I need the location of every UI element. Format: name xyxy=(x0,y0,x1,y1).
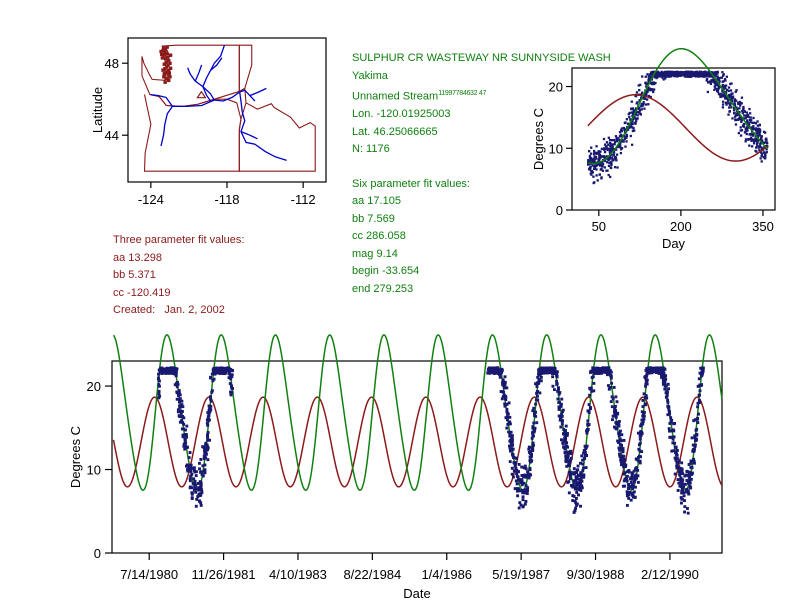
series-data-point xyxy=(642,405,645,408)
seasonal-xtick-label: 50 xyxy=(592,219,606,234)
series-data-point xyxy=(188,464,191,467)
series-data-point xyxy=(645,381,648,384)
state-boundary-0 xyxy=(142,45,239,106)
series-xtick-label: 7/14/1980 xyxy=(120,567,178,582)
series-data-point xyxy=(206,458,209,461)
seasonal-data-point xyxy=(652,91,654,93)
series-data-point xyxy=(617,441,620,444)
series-data-point xyxy=(626,494,629,497)
series-data-point xyxy=(584,451,587,454)
time-series-panel: 7/14/198011/26/19814/10/19838/22/19841/4… xyxy=(82,355,787,605)
series-data-point xyxy=(562,428,565,431)
series-data-point xyxy=(688,463,691,466)
seasonal-data-point xyxy=(641,108,643,110)
series-data-point xyxy=(683,483,686,486)
seasonal-data-point xyxy=(728,111,730,113)
seasonal-data-point xyxy=(641,75,643,77)
series-data-point xyxy=(551,385,554,388)
series-data-point xyxy=(561,419,564,422)
seasonal-data-point xyxy=(640,105,642,107)
series-data-point xyxy=(680,496,683,499)
seasonal-data-point xyxy=(595,156,597,158)
series-data-point xyxy=(680,478,683,481)
seasonal-data-point xyxy=(590,153,592,155)
series-data-point xyxy=(515,457,518,460)
series-data-point xyxy=(192,483,195,486)
series-data-point xyxy=(676,457,679,460)
seasonal-data-point xyxy=(595,165,597,167)
seasonal-data-point xyxy=(631,126,633,128)
series-data-point xyxy=(206,433,209,436)
series-data-point xyxy=(229,375,232,378)
three-param-block: Three parameter fit values: aa 13.298 bb… xyxy=(113,232,244,320)
seasonal-data-point xyxy=(745,138,747,140)
series-data-point xyxy=(224,371,227,374)
seasonal-frame xyxy=(572,68,775,210)
seasonal-data-point xyxy=(606,141,608,143)
series-data-point xyxy=(614,395,617,398)
series-data-point xyxy=(228,373,231,376)
series-data-point xyxy=(511,473,514,476)
series-data-point xyxy=(611,418,614,421)
series-data-point xyxy=(488,369,491,372)
series-data-point xyxy=(539,368,542,371)
series-data-point xyxy=(518,507,521,510)
series-data-point xyxy=(651,367,654,370)
seasonal-data-point xyxy=(749,112,751,114)
series-data-point xyxy=(670,421,673,424)
seasonal-data-point xyxy=(609,176,611,178)
seasonal-data-point xyxy=(635,119,637,121)
seasonal-data-point xyxy=(761,160,763,162)
series-data-point xyxy=(588,394,591,397)
seasonal-data-point xyxy=(742,108,744,110)
series-data-point xyxy=(524,465,527,468)
series-data-point xyxy=(197,486,200,489)
series-data-point xyxy=(618,455,621,458)
seasonal-data-point xyxy=(679,73,681,75)
series-data-point xyxy=(564,456,567,459)
seasonal-data-point xyxy=(755,146,757,148)
series-data-point xyxy=(203,449,206,452)
series-data-point xyxy=(626,490,629,493)
seasonal-data-point xyxy=(601,165,603,167)
series-data-point xyxy=(209,376,212,379)
series-data-point xyxy=(582,467,585,470)
series-data-point xyxy=(511,467,514,470)
seasonal-data-point xyxy=(603,156,605,158)
seasonal-ytick-label: 0 xyxy=(556,203,563,218)
seasonal-data-point xyxy=(630,108,632,110)
series-data-point xyxy=(502,384,505,387)
seasonal-data-point xyxy=(714,73,716,75)
series-data-point xyxy=(516,475,519,478)
seasonal-data-point xyxy=(747,138,749,140)
series-data-point xyxy=(157,383,160,386)
map-site-point xyxy=(168,62,171,65)
seasonal-plot-svg: 5020035001020DayDegrees C xyxy=(530,62,780,247)
seasonal-data-point xyxy=(755,122,757,124)
series-data-point xyxy=(683,505,686,508)
seasonal-data-point xyxy=(698,73,700,75)
series-data-point xyxy=(577,465,580,468)
series-data-point xyxy=(558,415,561,418)
series-data-point xyxy=(677,489,680,492)
series-data-point xyxy=(586,419,589,422)
series-data-point xyxy=(182,434,185,437)
six-param-begin: begin -33.654 xyxy=(352,263,611,281)
series-data-point xyxy=(189,478,192,481)
series-data-point xyxy=(579,462,582,465)
seasonal-data-point xyxy=(687,75,689,77)
series-data-point xyxy=(529,450,532,453)
series-data-point xyxy=(220,367,223,370)
seasonal-plot-panel: 5020035001020DayDegrees C xyxy=(530,62,780,247)
seasonal-data-point xyxy=(645,103,647,105)
series-data-point xyxy=(505,408,508,411)
seasonal-data-point xyxy=(759,157,761,159)
series-data-point xyxy=(545,366,548,369)
series-data-point xyxy=(695,439,698,442)
series-data-point xyxy=(637,481,640,484)
series-data-point xyxy=(667,387,670,390)
series-data-point xyxy=(582,476,585,479)
seasonal-data-point xyxy=(738,132,740,134)
seasonal-data-point xyxy=(741,97,743,99)
seasonal-data-point xyxy=(730,106,732,108)
series-data-point xyxy=(613,410,616,413)
series-data-point xyxy=(551,375,554,378)
seasonal-data-point xyxy=(616,166,618,168)
series-data-point xyxy=(592,375,595,378)
series-data-point xyxy=(211,389,214,392)
seasonal-data-point xyxy=(641,92,643,94)
series-data-point xyxy=(577,493,580,496)
series-data-point xyxy=(178,389,181,392)
series-data-point xyxy=(699,367,702,370)
seasonal-data-point xyxy=(727,113,729,115)
river-2 xyxy=(188,68,203,87)
series-data-point xyxy=(663,388,666,391)
series-data-point xyxy=(698,393,701,396)
seasonal-data-point xyxy=(655,73,657,75)
seasonal-data-point xyxy=(616,153,618,155)
seasonal-data-point xyxy=(636,101,638,103)
series-data-point xyxy=(175,374,178,377)
series-data-point xyxy=(579,505,582,508)
seasonal-data-point xyxy=(594,167,596,169)
series-data-point xyxy=(173,368,176,371)
seasonal-data-point xyxy=(631,111,633,113)
series-data-point xyxy=(209,395,212,398)
seasonal-data-point xyxy=(754,139,756,141)
series-data-point xyxy=(504,403,507,406)
seasonal-data-point xyxy=(590,147,592,149)
series-data-point xyxy=(683,494,686,497)
series-data-point xyxy=(507,431,510,434)
series-data-point xyxy=(614,427,617,430)
seasonal-data-point xyxy=(740,126,742,128)
series-xtick-label: 2/12/1990 xyxy=(641,567,699,582)
series-data-point xyxy=(700,383,703,386)
series-data-point xyxy=(560,398,563,401)
series-data-point xyxy=(211,373,214,376)
three-param-bb: bb 5.371 xyxy=(113,267,244,285)
seasonal-data-point xyxy=(661,74,663,76)
series-data-point xyxy=(556,398,559,401)
seasonal-data-point xyxy=(646,73,648,75)
series-data-point xyxy=(158,390,161,393)
seasonal-data-point xyxy=(722,103,724,105)
seasonal-data-point xyxy=(742,112,744,114)
seasonal-data-point xyxy=(589,167,591,169)
series-data-point xyxy=(177,383,180,386)
seasonal-data-point xyxy=(614,166,616,168)
seasonal-data-point xyxy=(733,109,735,111)
series-data-point xyxy=(644,385,647,388)
seasonal-data-point xyxy=(684,71,686,73)
river-7 xyxy=(161,106,172,146)
seasonal-data-point xyxy=(766,141,768,143)
series-data-point xyxy=(640,450,643,453)
series-data-point xyxy=(657,368,660,371)
series-data-point xyxy=(685,479,688,482)
seasonal-data-point xyxy=(614,143,616,145)
map-site-point xyxy=(168,72,171,75)
series-data-point xyxy=(534,403,537,406)
seasonal-data-point xyxy=(690,74,692,76)
series-data-point xyxy=(208,411,211,414)
series-data-point xyxy=(206,422,209,425)
series-data-point xyxy=(206,443,209,446)
seasonal-data-point xyxy=(634,122,636,124)
series-data-point xyxy=(617,425,620,428)
series-data-point xyxy=(206,436,209,439)
map-site-point xyxy=(164,48,167,51)
series-data-point xyxy=(201,473,204,476)
series-data-point xyxy=(687,512,690,515)
series-data-point xyxy=(192,467,195,470)
series-data-point xyxy=(509,460,512,463)
seasonal-data-point xyxy=(720,95,722,97)
series-data-point xyxy=(534,411,537,414)
seasonal-xtick-label: 200 xyxy=(670,219,692,234)
series-data-point xyxy=(665,391,668,394)
series-data-point xyxy=(607,368,610,371)
series-data-point xyxy=(184,442,187,445)
series-data-point xyxy=(690,472,693,475)
series-data-point xyxy=(621,450,624,453)
seasonal-data-point xyxy=(724,86,726,88)
series-data-point xyxy=(574,485,577,488)
seasonal-data-point xyxy=(628,116,630,118)
series-data-point xyxy=(660,373,663,376)
seasonal-data-point xyxy=(752,128,754,130)
series-data-point xyxy=(620,439,623,442)
series-data-point xyxy=(181,405,184,408)
series-data-point xyxy=(557,401,560,404)
series-data-point xyxy=(688,476,691,479)
series-data-point xyxy=(206,446,209,449)
series-data-point xyxy=(693,448,696,451)
series-data-point xyxy=(644,402,647,405)
series-data-point xyxy=(536,385,539,388)
series-data-point xyxy=(680,502,683,505)
series-data-point xyxy=(636,469,639,472)
seasonal-data-point xyxy=(620,152,622,154)
series-data-point xyxy=(531,434,534,437)
station-marker xyxy=(197,92,205,98)
seasonal-data-point xyxy=(744,111,746,113)
series-data-point xyxy=(613,386,616,389)
seasonal-data-point xyxy=(725,102,727,104)
station-id: 11997784632 47 xyxy=(438,90,486,97)
seasonal-data-point xyxy=(608,137,610,139)
series-data-point xyxy=(499,376,502,379)
seasonal-data-point xyxy=(592,176,594,178)
series-data-point xyxy=(562,442,565,445)
seasonal-data-point xyxy=(625,140,627,142)
series-data-point xyxy=(702,367,705,370)
series-data-point xyxy=(634,477,637,480)
series-data-point xyxy=(672,429,675,432)
seasonal-data-point xyxy=(743,123,745,125)
series-data-point xyxy=(560,438,563,441)
series-data-point xyxy=(211,379,214,382)
series-data-point xyxy=(697,413,700,416)
seasonal-data-point xyxy=(621,127,623,129)
seasonal-data-point xyxy=(731,117,733,119)
series-data-point xyxy=(573,511,576,514)
seasonal-data-point xyxy=(745,140,747,142)
series-data-point xyxy=(507,413,510,416)
three-param-aa: aa 13.298 xyxy=(113,250,244,268)
seasonal-data-point xyxy=(746,114,748,116)
seasonal-data-point xyxy=(603,138,605,140)
series-data-point xyxy=(513,469,516,472)
series-data-point xyxy=(195,498,198,501)
series-data-point xyxy=(639,425,642,428)
seasonal-data-point xyxy=(736,119,738,121)
series-data-point xyxy=(673,422,676,425)
series-data-point xyxy=(627,469,630,472)
seasonal-data-point xyxy=(754,150,756,152)
seasonal-data-point xyxy=(708,75,710,77)
series-data-point xyxy=(516,482,519,485)
seasonal-data-point xyxy=(690,71,692,73)
series-data-point xyxy=(189,475,192,478)
seasonal-data-point xyxy=(591,164,593,166)
series-data-point xyxy=(565,425,568,428)
seasonal-data-point xyxy=(715,71,717,73)
series-data-point xyxy=(641,415,644,418)
map-ytick-label: 44 xyxy=(105,128,119,143)
series-data-point xyxy=(679,481,682,484)
series-data-point xyxy=(630,476,633,479)
series-data-point xyxy=(209,405,212,408)
series-data-point xyxy=(565,445,568,448)
series-data-point xyxy=(180,400,183,403)
series-data-point xyxy=(578,488,581,491)
series-data-point xyxy=(683,475,686,478)
seasonal-data-point xyxy=(666,75,668,77)
series-data-point xyxy=(592,382,595,385)
series-data-point xyxy=(584,445,587,448)
series-ytick-label: 0 xyxy=(94,546,101,561)
series-data-point xyxy=(571,499,574,502)
seasonal-xlabel: Day xyxy=(662,236,686,251)
series-data-point xyxy=(551,367,554,370)
series-data-point xyxy=(626,475,629,478)
series-data-point xyxy=(199,480,202,483)
map-site-point xyxy=(164,57,167,60)
seasonal-data-point xyxy=(613,139,615,141)
seasonal-data-point xyxy=(650,73,652,75)
series-data-point xyxy=(668,430,671,433)
series-data-point xyxy=(218,367,221,370)
series-data-point xyxy=(624,478,627,481)
series-data-point xyxy=(680,485,683,488)
series-data-point xyxy=(680,492,683,495)
series-data-point xyxy=(159,370,162,373)
series-data-point xyxy=(583,457,586,460)
series-data-point xyxy=(581,486,584,489)
seasonal-data-point xyxy=(756,142,758,144)
series-data-point xyxy=(506,423,509,426)
series-data-point xyxy=(641,410,644,413)
seasonal-data-point xyxy=(746,129,748,131)
series-data-point xyxy=(229,391,232,394)
seasonal-data-point xyxy=(741,129,743,131)
series-xtick-label: 5/19/1987 xyxy=(492,567,550,582)
seasonal-data-point xyxy=(611,144,613,146)
seasonal-data-point xyxy=(763,152,765,154)
series-ytick-label: 10 xyxy=(87,463,101,478)
series-data-point xyxy=(623,439,626,442)
series-data-point xyxy=(522,495,525,498)
series-data-point xyxy=(590,387,593,390)
series-data-point xyxy=(679,469,682,472)
seasonal-data-point xyxy=(644,98,646,100)
series-data-point xyxy=(606,373,609,376)
series-data-point xyxy=(616,421,619,424)
series-data-point xyxy=(537,381,540,384)
series-data-point xyxy=(698,377,701,380)
seasonal-data-point xyxy=(593,159,595,161)
series-data-point xyxy=(551,372,554,375)
series-data-point xyxy=(580,454,583,457)
series-data-point xyxy=(191,497,194,500)
series-data-point xyxy=(185,425,188,428)
series-data-point xyxy=(692,458,695,461)
series-data-point xyxy=(194,480,197,483)
series-data-point xyxy=(645,397,648,400)
seasonal-data-point xyxy=(707,91,709,93)
series-data-point xyxy=(562,432,565,435)
seasonal-data-point xyxy=(734,116,736,118)
series-data-point xyxy=(186,470,189,473)
seasonal-data-point xyxy=(740,134,742,136)
series-data-point xyxy=(503,386,506,389)
series-data-point xyxy=(647,367,650,370)
series-data-point xyxy=(536,395,539,398)
seasonal-data-point xyxy=(671,72,673,74)
seasonal-data-point xyxy=(730,89,732,91)
three-param-heading: Three parameter fit values: xyxy=(113,232,244,250)
river-5 xyxy=(250,88,267,95)
series-data-point xyxy=(228,367,231,370)
series-data-point xyxy=(667,383,670,386)
